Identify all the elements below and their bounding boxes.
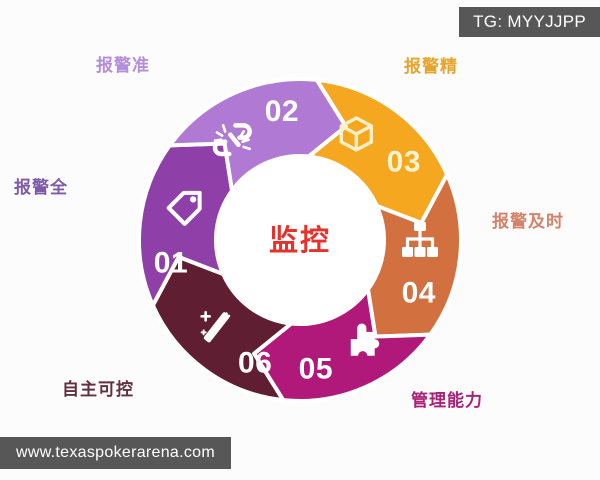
segment-number-03: 03	[387, 145, 421, 178]
segment-number-01: 01	[154, 246, 188, 279]
center-label: 监控	[269, 226, 331, 255]
segment-number-06: 06	[238, 347, 272, 380]
watermark-top-right: TG: MYYJJPP	[459, 7, 600, 37]
segment-label-03: 报警精	[404, 59, 458, 76]
segment-label-02: 报警准	[96, 58, 150, 75]
watermark-bottom-left: www.texaspokerarena.com	[0, 437, 231, 469]
segment-label-04: 报警及时	[492, 214, 564, 231]
segment-number-04: 04	[402, 276, 436, 309]
center-hub: 监控	[217, 157, 383, 323]
segment-label-05: 管理能力	[411, 393, 483, 410]
segment-number-05: 05	[299, 353, 333, 386]
segment-label-01: 报警全	[14, 180, 68, 197]
segment-number-02: 02	[265, 95, 299, 128]
diagram-canvas: 010203040506 监控 报警全 报警准 报警精 报警及时 管理能力 自主…	[0, 0, 600, 480]
segment-label-06: 自主可控	[62, 382, 134, 399]
